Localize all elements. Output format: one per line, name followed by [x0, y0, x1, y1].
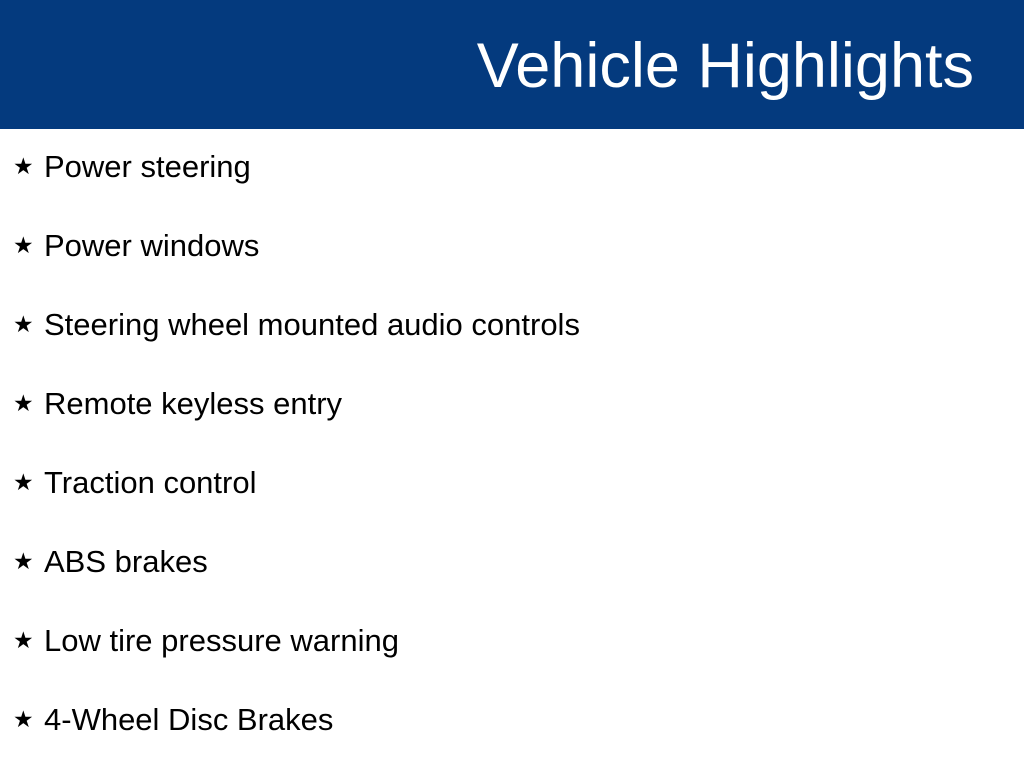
list-item-label: Remote keyless entry: [30, 388, 342, 419]
list-item-label: Low tire pressure warning: [30, 625, 399, 656]
star-icon: ★: [0, 551, 30, 574]
star-icon: ★: [0, 472, 30, 495]
list-item: ★ ABS brakes: [0, 546, 1024, 625]
star-icon: ★: [0, 156, 30, 179]
star-icon: ★: [0, 235, 30, 258]
slide-body: ★ Power steering ★ Power windows ★ Steer…: [0, 129, 1024, 768]
list-item-label: ABS brakes: [30, 546, 208, 577]
list-item: ★ Low tire pressure warning: [0, 625, 1024, 704]
list-item: ★ Steering wheel mounted audio controls: [0, 309, 1024, 388]
list-item-label: Power windows: [30, 230, 259, 261]
vehicle-highlights-list: ★ Power steering ★ Power windows ★ Steer…: [0, 151, 1024, 783]
star-icon: ★: [0, 393, 30, 416]
star-icon: ★: [0, 709, 30, 732]
list-item: ★ Traction control: [0, 467, 1024, 546]
list-item: ★ Power steering: [0, 151, 1024, 230]
list-item-label: Steering wheel mounted audio controls: [30, 309, 580, 340]
list-item: ★ 4-Wheel Disc Brakes: [0, 704, 1024, 783]
list-item-label: Power steering: [30, 151, 251, 182]
list-item: ★ Power windows: [0, 230, 1024, 309]
list-item-label: 4-Wheel Disc Brakes: [30, 704, 333, 735]
title-banner: Vehicle Highlights: [0, 0, 1024, 129]
list-item: ★ Remote keyless entry: [0, 388, 1024, 467]
list-item-label: Traction control: [30, 467, 257, 498]
presentation-slide: Vehicle Highlights ★ Power steering ★ Po…: [0, 0, 1024, 768]
page-title: Vehicle Highlights: [477, 33, 974, 99]
star-icon: ★: [0, 314, 30, 337]
star-icon: ★: [0, 630, 30, 653]
